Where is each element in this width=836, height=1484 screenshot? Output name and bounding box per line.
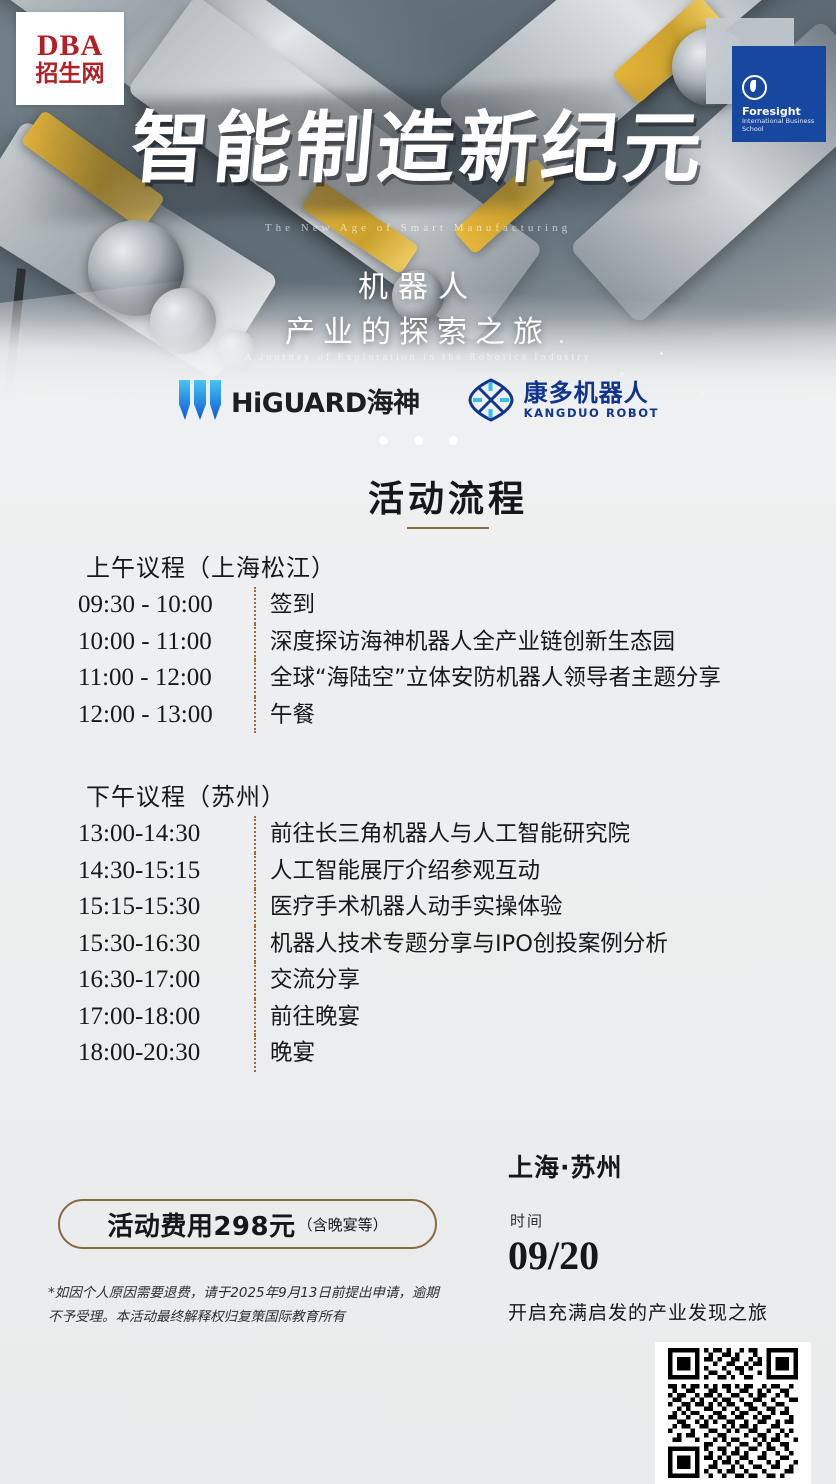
- agenda-divider: [254, 853, 256, 890]
- agenda-desc: 前往晚宴: [270, 999, 360, 1034]
- paint-speck: [620, 372, 624, 376]
- brand-logo-row: HiGUARD海神 康多机器人 KANGDUO ROBOT: [0, 378, 836, 422]
- agenda-desc: 深度探访海神机器人全产业链创新生态园: [270, 624, 675, 659]
- hero-subtitle-line2: 产业的探索之旅: [0, 307, 836, 351]
- agenda-desc: 医疗手术机器人动手实操体验: [270, 889, 563, 924]
- higuard-brand[interactable]: HiGUARD海神: [177, 378, 420, 422]
- agenda-divider: [254, 587, 256, 624]
- agenda-time: 12:00 - 13:00: [78, 697, 254, 734]
- agenda-row: 17:00-18:00 前往晚宴: [78, 999, 836, 1036]
- schedule-heading: 活动流程: [368, 470, 528, 522]
- agenda-desc: 人工智能展厅介绍参观互动: [270, 853, 540, 888]
- agenda-group-afternoon: 下午议程（苏州） 13:00-14:30 前往长三角机器人与人工智能研究院 14…: [0, 777, 836, 1072]
- higuard-wordmark: HiGUARD海神: [231, 381, 420, 420]
- kangduo-logo-icon: [466, 378, 516, 422]
- dot-icon: [414, 436, 423, 445]
- agenda-divider: [254, 660, 256, 697]
- agenda-divider: [254, 697, 256, 734]
- agenda-desc: 晚宴: [270, 1035, 315, 1070]
- agenda-rows: 09:30 - 10:00 签到 10:00 - 11:00 深度探访海神机器人…: [78, 587, 836, 733]
- price-badge: 活动费用298元 （含晚宴等）: [58, 1199, 437, 1249]
- agenda-group-title: 上午议程（上海松江）: [86, 548, 836, 583]
- kangduo-name-cn: 康多机器人: [524, 381, 659, 405]
- agenda-time: 18:00-20:30: [78, 1035, 254, 1072]
- event-tagline: 开启充满启发的产业发现之旅: [508, 1298, 768, 1325]
- agenda-time: 15:15-15:30: [78, 889, 254, 926]
- hero-title-english: The New Age of Smart Manufacturing: [0, 222, 836, 234]
- agenda-time: 17:00-18:00: [78, 999, 254, 1036]
- agenda-desc: 全球“海陆空”立体安防机器人领导者主题分享: [270, 660, 721, 695]
- qr-code-image: [661, 1348, 805, 1478]
- agenda-desc: 机器人技术专题分享与IPO创投案例分析: [270, 926, 668, 961]
- foresight-emblem-icon: [742, 75, 767, 100]
- event-date: 09/20: [508, 1232, 599, 1279]
- event-time-label: 时间: [510, 1210, 544, 1231]
- dba-logo[interactable]: DBA 招生网: [16, 12, 124, 105]
- agenda-row: 18:00-20:30 晚宴: [78, 1035, 836, 1072]
- dot-icon: [379, 436, 388, 445]
- dba-logo-en: DBA: [37, 31, 103, 61]
- agenda-time: 14:30-15:15: [78, 853, 254, 890]
- agenda-time: 15:30-16:30: [78, 926, 254, 963]
- kangduo-wordmark: 康多机器人 KANGDUO ROBOT: [524, 381, 659, 420]
- agenda-divider: [254, 926, 256, 963]
- qr-code[interactable]: [655, 1342, 811, 1484]
- poster-root: DBA 招生网 Foresight International Business…: [0, 0, 836, 1484]
- schedule-heading-rule: [407, 527, 489, 529]
- dot-icon: [449, 436, 458, 445]
- agenda-row: 10:00 - 11:00 深度探访海神机器人全产业链创新生态园: [78, 624, 836, 661]
- hero-title: 智能制造新纪元: [0, 110, 836, 188]
- agenda-desc: 交流分享: [270, 962, 360, 997]
- agenda-time: 10:00 - 11:00: [78, 624, 254, 661]
- agenda-divider: [254, 816, 256, 853]
- agenda-row: 15:15-15:30 医疗手术机器人动手实操体验: [78, 889, 836, 926]
- decorative-dots: [0, 436, 836, 445]
- agenda-list: 上午议程（上海松江） 09:30 - 10:00 签到 10:00 - 11:0…: [0, 548, 836, 1076]
- agenda-desc: 午餐: [270, 697, 315, 732]
- agenda-row: 14:30-15:15 人工智能展厅介绍参观互动: [78, 853, 836, 890]
- agenda-desc: 前往长三角机器人与人工智能研究院: [270, 816, 630, 851]
- hero-banner: DBA 招生网 Foresight International Business…: [0, 0, 836, 470]
- schedule-heading-wrap: 活动流程: [0, 470, 836, 522]
- agenda-desc: 签到: [270, 587, 315, 622]
- higuard-shield-icon: [177, 378, 223, 422]
- agenda-group-title: 下午议程（苏州）: [86, 777, 836, 812]
- kangduo-brand[interactable]: 康多机器人 KANGDUO ROBOT: [466, 378, 659, 422]
- agenda-row: 15:30-16:30 机器人技术专题分享与IPO创投案例分析: [78, 926, 836, 963]
- agenda-time: 11:00 - 12:00: [78, 660, 254, 697]
- kangduo-name-en: KANGDUO ROBOT: [524, 408, 659, 420]
- agenda-row: 09:30 - 10:00 签到: [78, 587, 836, 624]
- agenda-time: 16:30-17:00: [78, 962, 254, 999]
- agenda-rows: 13:00-14:30 前往长三角机器人与人工智能研究院 14:30-15:15…: [78, 816, 836, 1072]
- price-note: （含晚宴等）: [298, 1214, 388, 1235]
- agenda-group-morning: 上午议程（上海松江） 09:30 - 10:00 签到 10:00 - 11:0…: [0, 548, 836, 733]
- agenda-row: 12:00 - 13:00 午餐: [78, 697, 836, 734]
- agenda-row: 11:00 - 12:00 全球“海陆空”立体安防机器人领导者主题分享: [78, 660, 836, 697]
- hero-subtitle-english: A Journey of Exploration in the Robotics…: [0, 352, 836, 363]
- agenda-time: 09:30 - 10:00: [78, 587, 254, 624]
- agenda-divider: [254, 1035, 256, 1072]
- agenda-row: 13:00-14:30 前往长三角机器人与人工智能研究院: [78, 816, 836, 853]
- hero-subtitle-line1: 机器人: [0, 262, 836, 306]
- agenda-divider: [254, 889, 256, 926]
- agenda-divider: [254, 624, 256, 661]
- agenda-divider: [254, 999, 256, 1036]
- agenda-row: 16:30-17:00 交流分享: [78, 962, 836, 999]
- refund-disclaimer: *如因个人原因需要退费，请于2025年9月13日前提出申请，逾期不予受理。本活动…: [48, 1282, 452, 1329]
- event-city: 上海·苏州: [508, 1148, 623, 1184]
- agenda-divider: [254, 962, 256, 999]
- agenda-time: 13:00-14:30: [78, 816, 254, 853]
- dba-logo-cn: 招生网: [36, 63, 105, 86]
- price-amount: 活动费用298元: [107, 1206, 295, 1243]
